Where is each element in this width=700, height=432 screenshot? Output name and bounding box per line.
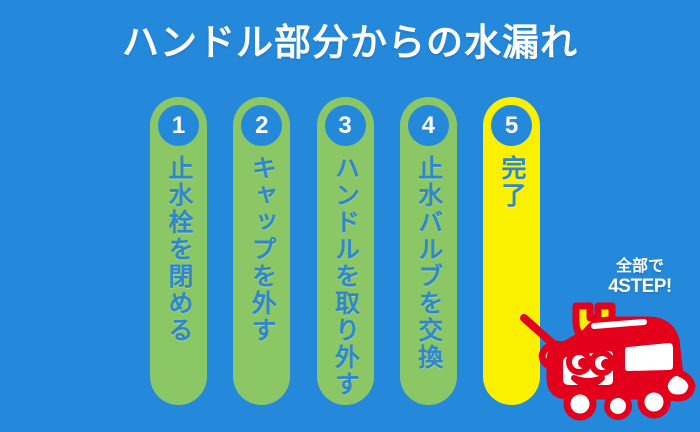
steps-row: 1 止水栓を閉める 2 キャップを外す 3 ハンドルを取り外す 4 止水バルブを… [150, 97, 540, 407]
step-label-5: 完了 [499, 155, 524, 209]
step-label-2: キャップを外す [249, 155, 274, 344]
step-item-4: 4 止水バルブを交換 [400, 97, 457, 405]
step-item-2: 2 キャップを外す [233, 97, 290, 405]
total-steps-note: 全部で 4STEP! [594, 258, 686, 297]
service-van-mascot-icon [516, 300, 700, 432]
step-number-badge-1: 1 [158, 105, 199, 146]
step-label-1: 止水栓を閉める [166, 155, 191, 344]
step-number-badge-5: 5 [491, 105, 532, 146]
total-steps-note-line2: 4STEP! [594, 276, 686, 297]
step-label-3: ハンドルを取り外す [333, 155, 358, 398]
step-item-3: 3 ハンドルを取り外す [317, 97, 374, 405]
total-steps-note-line1: 全部で [594, 258, 686, 276]
step-item-1: 1 止水栓を閉める [150, 97, 207, 405]
infographic-canvas: ハンドル部分からの水漏れ 1 止水栓を閉める 2 キャップを外す 3 ハンドルを… [0, 0, 700, 432]
step-label-4: 止水バルブを交換 [416, 155, 441, 371]
step-number-badge-2: 2 [241, 105, 282, 146]
step-number-badge-4: 4 [408, 105, 449, 146]
page-title: ハンドル部分からの水漏れ [0, 22, 700, 65]
step-number-badge-3: 3 [325, 105, 366, 146]
